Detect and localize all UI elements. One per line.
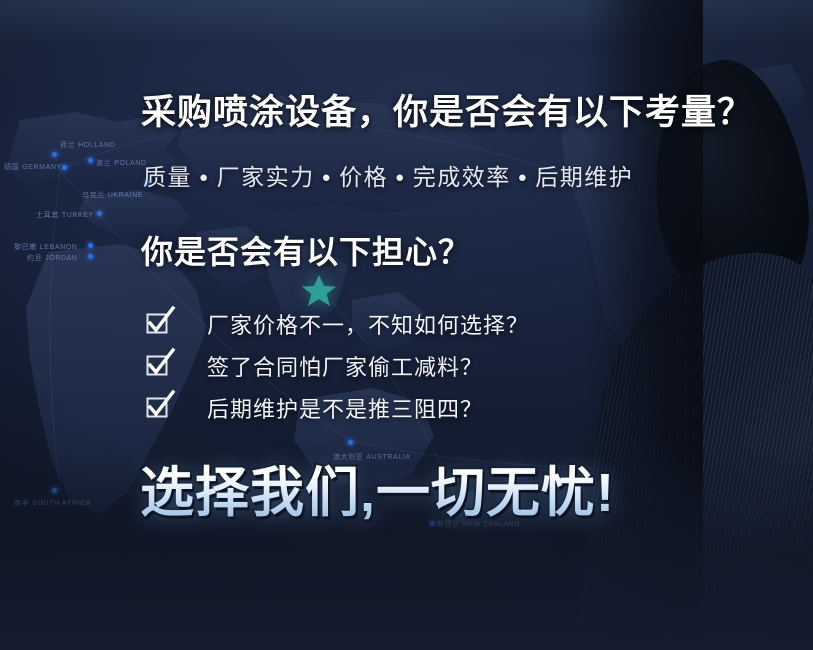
subline-separator: ●	[199, 169, 210, 186]
checkbox-checked-icon	[147, 396, 171, 420]
promo-banner: 荷兰HOLLAND波兰POLAND德国GERMANY乌克兰UKRAINE土耳其T…	[0, 0, 813, 650]
worry-item: 厂家价格不一，不知如何选择？	[147, 303, 529, 345]
subline-item: 厂家实力	[217, 164, 315, 190]
checkbox-checked-icon	[147, 312, 171, 336]
banner-slogan: 选择我们,一切无忧!	[140, 448, 615, 527]
worry-item-label: 签了合同怕厂家偷工减料？	[207, 350, 483, 382]
subline-item: 后期维护	[535, 164, 633, 190]
subline-separator: ●	[322, 169, 333, 186]
banner-content: 采购喷涂设备，你是否会有以下考量？ 质量●厂家实力●价格●完成效率●后期维护 你…	[0, 0, 813, 650]
subline-item: 质量	[143, 164, 192, 190]
worry-item: 签了合同怕厂家偷工减料？	[147, 345, 529, 387]
banner-subline: 质量●厂家实力●价格●完成效率●后期维护	[143, 158, 633, 192]
subline-separator: ●	[395, 169, 406, 186]
banner-headline-secondary: 你是否会有以下担心？	[141, 227, 471, 273]
subline-separator: ●	[518, 169, 529, 186]
worry-list: 厂家价格不一，不知如何选择？签了合同怕厂家偷工减料？后期维护是不是推三阻四？	[147, 303, 529, 429]
worry-item-label: 厂家价格不一，不知如何选择？	[207, 308, 529, 340]
subline-item: 价格	[339, 164, 388, 190]
banner-headline: 采购喷涂设备，你是否会有以下考量？	[141, 84, 753, 135]
subline-item: 完成效率	[413, 164, 511, 190]
worry-item-label: 后期维护是不是推三阻四？	[207, 392, 483, 424]
worry-item: 后期维护是不是推三阻四？	[147, 387, 529, 429]
checkbox-checked-icon	[147, 354, 171, 378]
